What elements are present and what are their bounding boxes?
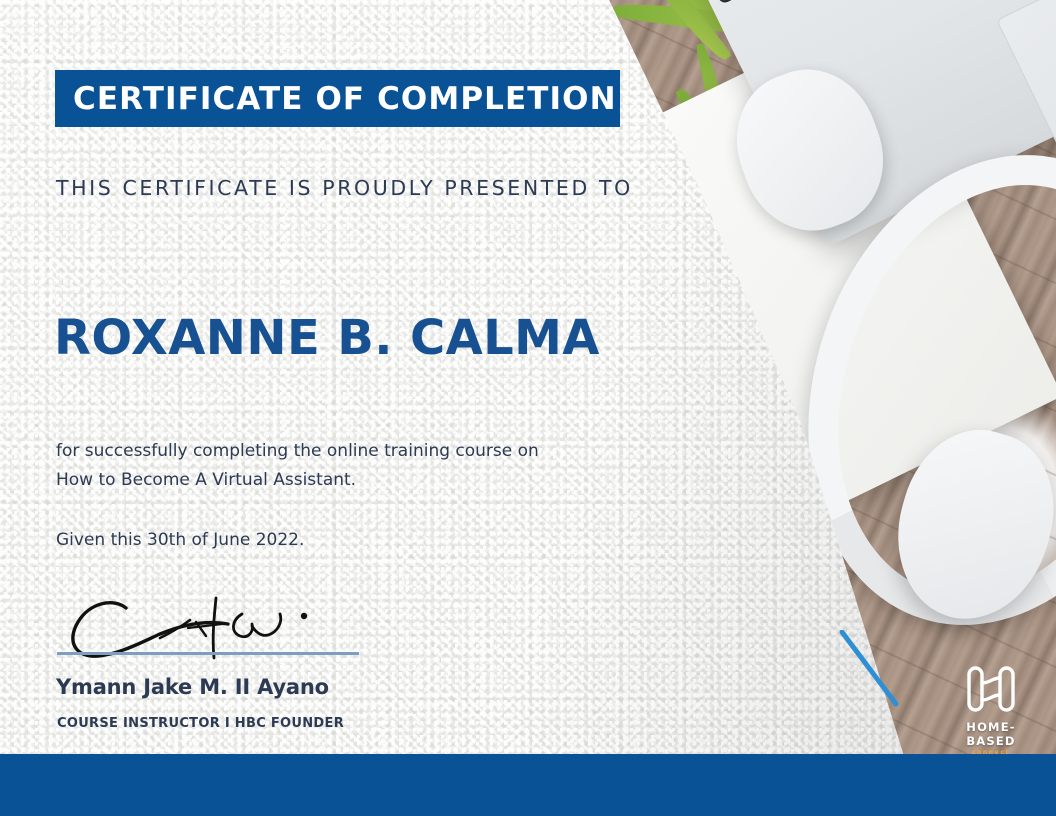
achievement-line-1: for successfully completing the online t… [56, 437, 539, 466]
footer-bar [0, 754, 1056, 816]
logo-wordmark: HOME-BASED [944, 720, 1038, 748]
achievement-description: for successfully completing the online t… [56, 437, 539, 495]
signatory-role: COURSE INSTRUCTOR I HBC FOUNDER [57, 716, 344, 731]
signatory-name: Ymann Jake M. II Ayano [56, 675, 329, 699]
certificate-canvas: fn ~ Z D ctrl alt X cmd [0, 0, 1056, 816]
achievement-line-2: How to Become A Virtual Assistant. [56, 466, 539, 495]
certificate-title-banner: CERTIFICATE OF COMPLETION [55, 70, 620, 127]
presented-to-label: THIS CERTIFICATE IS PROUDLY PRESENTED TO [56, 176, 633, 200]
signature-rule [57, 652, 359, 655]
home-based-logo: HOME-BASED connect [944, 664, 1038, 748]
issue-date: Given this 30th of June 2022. [56, 530, 304, 550]
page-title: CERTIFICATE OF COMPLETION [73, 81, 617, 117]
key-cmd: cmd [702, 0, 770, 5]
recipient-name: ROXANNE B. CALMA [54, 310, 600, 366]
home-based-h-monogram-icon [962, 664, 1020, 714]
